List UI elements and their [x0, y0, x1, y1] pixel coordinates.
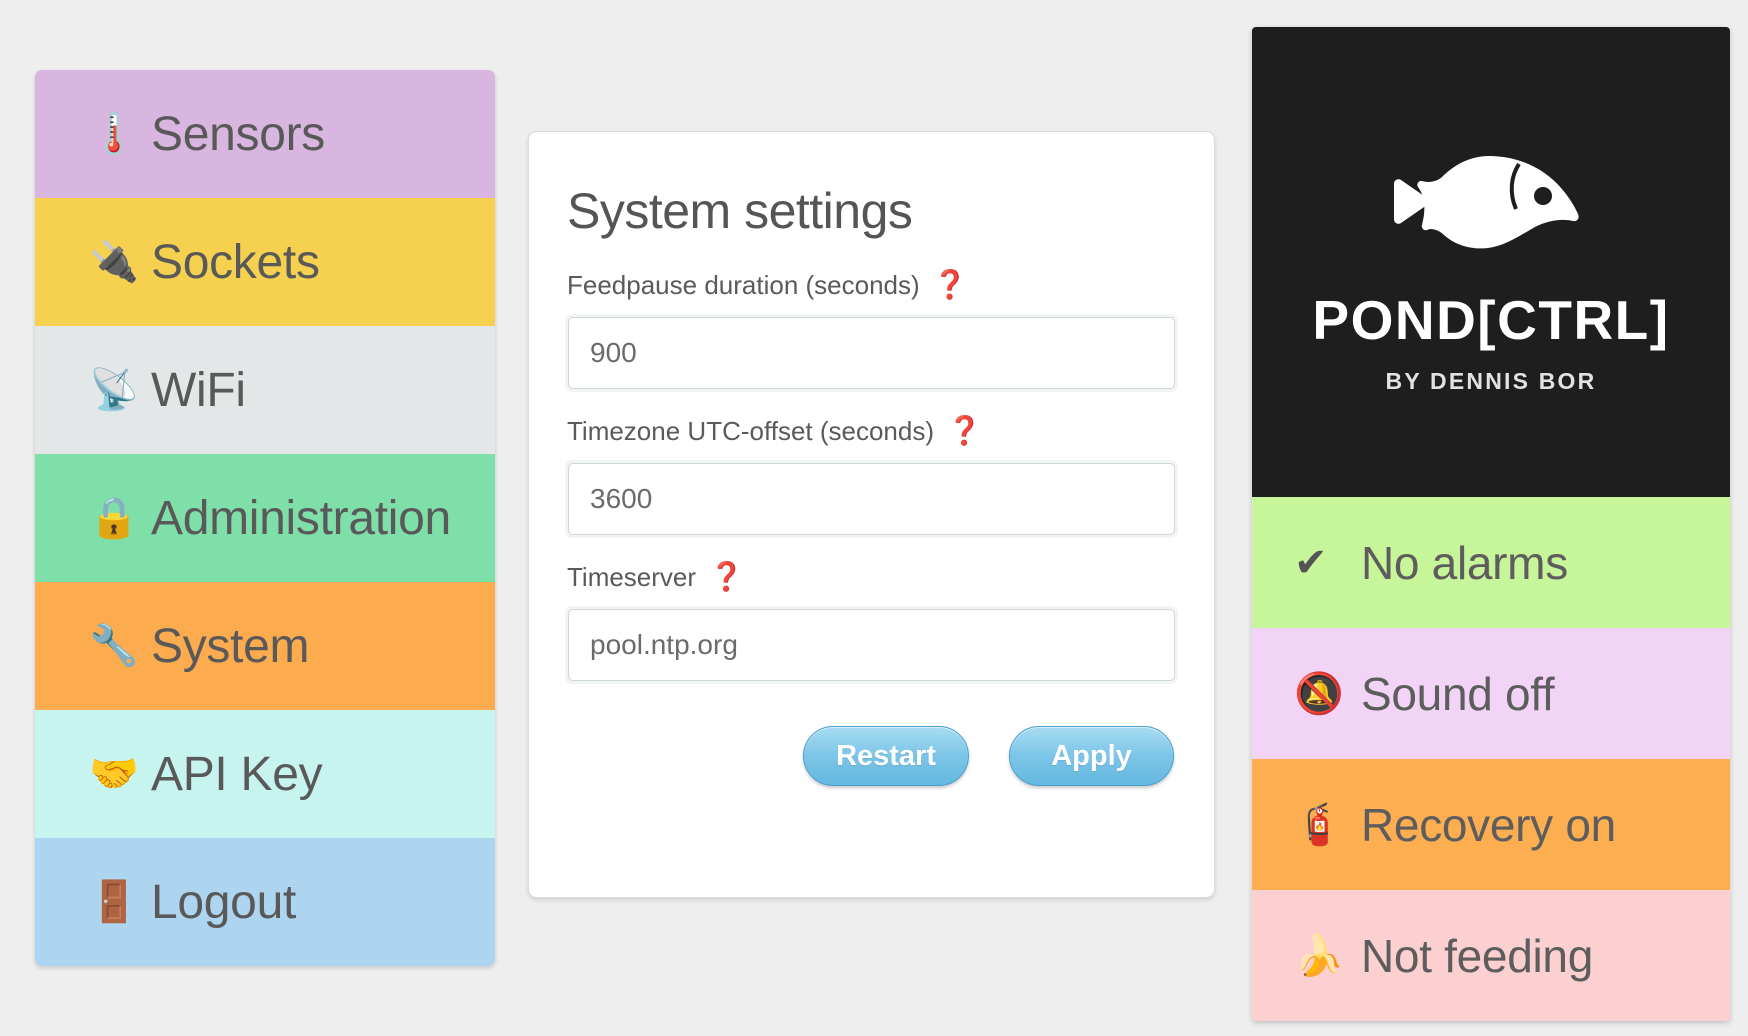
- sidebar-item-label: WiFi: [151, 363, 246, 418]
- sidebar-item-api-key[interactable]: 🤝 API Key: [35, 710, 495, 838]
- sidebar-item-sockets[interactable]: 🔌 Sockets: [35, 198, 495, 326]
- help-icon[interactable]: ❓: [947, 417, 982, 445]
- field-timeserver: Timeserver ❓: [565, 562, 1178, 684]
- sidebar-item-logout[interactable]: 🚪 Logout: [35, 838, 495, 966]
- system-settings-card: System settings Feedpause duration (seco…: [528, 131, 1215, 898]
- field-label-text: Timezone UTC-offset (seconds): [567, 416, 934, 447]
- help-icon[interactable]: ❓: [933, 271, 968, 299]
- field-label: Timezone UTC-offset (seconds) ❓: [567, 416, 1178, 447]
- status-item-label: No alarms: [1361, 536, 1568, 590]
- timeserver-input[interactable]: [568, 609, 1175, 681]
- status-item-no-alarms[interactable]: ✔ No alarms: [1252, 497, 1730, 628]
- field-label-text: Timeserver: [567, 562, 696, 593]
- checkmark-icon: ✔: [1294, 543, 1361, 583]
- plug-icon: 🔌: [89, 242, 151, 282]
- banana-icon: 🍌: [1294, 936, 1361, 976]
- field-label: Timeserver ❓: [567, 562, 1178, 593]
- sidebar-item-administration[interactable]: 🔒 Administration: [35, 454, 495, 582]
- sidebar-item-label: System: [151, 619, 309, 674]
- main-navigation-sidebar: 🌡️ Sensors 🔌 Sockets 📡 WiFi 🔒 Administra…: [35, 70, 495, 966]
- status-item-label: Recovery on: [1361, 798, 1616, 852]
- door-icon: 🚪: [89, 882, 151, 922]
- input-wrapper: [565, 314, 1178, 392]
- status-item-label: Not feeding: [1361, 929, 1593, 983]
- card-action-bar: Restart Apply: [565, 726, 1178, 786]
- input-wrapper: [565, 606, 1178, 684]
- brand-subtitle: BY DENNIS BOR: [1386, 370, 1597, 393]
- sidebar-item-label: Sockets: [151, 235, 320, 290]
- sidebar-item-sensors[interactable]: 🌡️ Sensors: [35, 70, 495, 198]
- thermometer-icon: 🌡️: [89, 114, 151, 154]
- brand-title: POND[CTRL]: [1312, 293, 1669, 348]
- timezone-offset-input[interactable]: [568, 463, 1175, 535]
- fish-logo-icon: [1393, 142, 1589, 263]
- wrench-icon: 🔧: [89, 626, 151, 666]
- handshake-icon: 🤝: [89, 754, 151, 794]
- app-root: 🌡️ Sensors 🔌 Sockets 📡 WiFi 🔒 Administra…: [0, 0, 1748, 1036]
- apply-button[interactable]: Apply: [1009, 726, 1174, 786]
- sidebar-item-label: Sensors: [151, 107, 325, 162]
- satellite-dish-icon: 📡: [89, 370, 151, 410]
- field-timezone-offset: Timezone UTC-offset (seconds) ❓: [565, 416, 1178, 538]
- sidebar-item-label: Administration: [151, 491, 451, 546]
- feedpause-duration-input[interactable]: [568, 317, 1175, 389]
- sidebar-item-wifi[interactable]: 📡 WiFi: [35, 326, 495, 454]
- status-item-label: Sound off: [1361, 667, 1554, 721]
- status-item-not-feeding[interactable]: 🍌 Not feeding: [1252, 890, 1730, 1021]
- restart-button[interactable]: Restart: [803, 726, 969, 786]
- sidebar-item-system[interactable]: 🔧 System: [35, 582, 495, 710]
- sidebar-item-label: API Key: [151, 747, 322, 802]
- sidebar-item-label: Logout: [151, 875, 296, 930]
- lock-icon: 🔒: [89, 498, 151, 538]
- input-wrapper: [565, 460, 1178, 538]
- field-label-text: Feedpause duration (seconds): [567, 270, 920, 301]
- status-panel: POND[CTRL] BY DENNIS BOR ✔ No alarms 🔕 S…: [1252, 27, 1730, 1021]
- status-item-recovery-on[interactable]: 🧯 Recovery on: [1252, 759, 1730, 890]
- page-title: System settings: [567, 182, 1178, 240]
- status-item-sound-off[interactable]: 🔕 Sound off: [1252, 628, 1730, 759]
- field-feedpause-duration: Feedpause duration (seconds) ❓: [565, 270, 1178, 392]
- brand-header: POND[CTRL] BY DENNIS BOR: [1252, 27, 1730, 497]
- bell-muted-icon: 🔕: [1294, 674, 1361, 714]
- help-icon[interactable]: ❓: [709, 563, 744, 591]
- field-label: Feedpause duration (seconds) ❓: [567, 270, 1178, 301]
- fire-extinguisher-icon: 🧯: [1294, 805, 1361, 845]
